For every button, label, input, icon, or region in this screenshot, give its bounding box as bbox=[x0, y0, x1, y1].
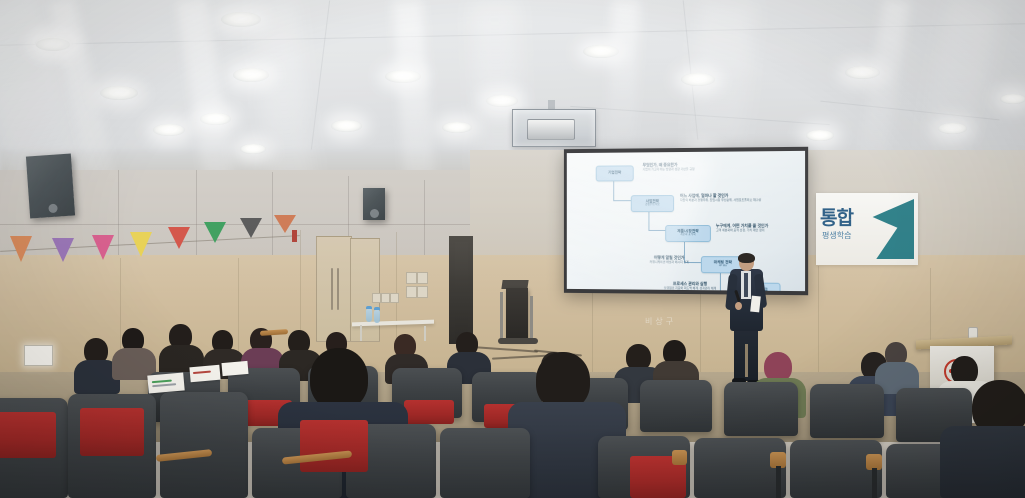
water-bottle[interactable] bbox=[374, 310, 380, 323]
av-cart-base bbox=[498, 338, 538, 344]
ceiling-downlight bbox=[806, 130, 834, 141]
ceiling-downlight bbox=[1000, 94, 1025, 104]
ceiling-downlight bbox=[240, 144, 266, 154]
wall-seam bbox=[818, 266, 819, 372]
printed-handout bbox=[189, 365, 220, 383]
seat-cushion-front[interactable] bbox=[300, 420, 368, 472]
ceiling-downlight bbox=[938, 123, 967, 134]
hall-door-left[interactable] bbox=[316, 236, 352, 342]
note-sub: 고객 세분화와 표적 선정, 가치 제안 정의 bbox=[716, 229, 805, 233]
wall-panel-seam bbox=[118, 170, 119, 260]
light-switch-plate[interactable] bbox=[406, 272, 417, 284]
ceiling-downlight bbox=[200, 113, 231, 125]
seat-armrest bbox=[672, 450, 687, 465]
ceiling-downlight bbox=[233, 68, 269, 82]
table-leg bbox=[360, 325, 362, 341]
ceiling-downlight bbox=[331, 120, 362, 132]
auditorium-seat[interactable] bbox=[640, 380, 712, 432]
printed-handout bbox=[147, 372, 184, 393]
bottle-cap bbox=[366, 306, 372, 309]
ceiling-downlight bbox=[153, 124, 185, 136]
av-cart-pole bbox=[530, 296, 533, 340]
seat-leg bbox=[776, 466, 781, 498]
screen-surface: 기업전략 사업전략 경쟁우위 확보 제품/시장전략 세분화·표적화 마케팅 전략… bbox=[567, 151, 805, 291]
presenter-leg-gap bbox=[745, 344, 748, 377]
ceiling-downlight bbox=[845, 66, 880, 79]
av-equipment-cart bbox=[506, 288, 528, 340]
door-handle[interactable] bbox=[337, 268, 339, 310]
lecture-hall-photo: 비상구 bbox=[0, 0, 1025, 498]
banner-graphic bbox=[868, 199, 914, 259]
light-switch-plate[interactable] bbox=[406, 286, 417, 298]
presenter bbox=[726, 254, 766, 386]
wall-panel-seam bbox=[196, 170, 197, 262]
wall-panel-seam bbox=[272, 172, 273, 264]
light-switch-plate[interactable] bbox=[417, 272, 428, 284]
auditorium-seat-front[interactable] bbox=[440, 428, 530, 498]
bunting-flag bbox=[168, 227, 190, 249]
seat-cushion-front[interactable] bbox=[0, 412, 56, 458]
slide-note: 누구에게, 어떤 가치를 줄 것인가 고객 세분화와 표적 선정, 가치 제안 … bbox=[716, 224, 805, 232]
handout-line bbox=[152, 383, 176, 387]
bunting-flag bbox=[10, 236, 32, 262]
speaker-cone bbox=[370, 209, 379, 218]
banner-title: 통합 bbox=[820, 203, 853, 230]
auditorium-seat-front[interactable] bbox=[160, 392, 248, 498]
ceiling-downlight bbox=[681, 73, 715, 86]
wall-speaker-left bbox=[26, 154, 75, 219]
auditorium-seat[interactable] bbox=[724, 382, 798, 436]
light-switch-plate[interactable] bbox=[417, 286, 428, 298]
speaker-cone bbox=[48, 203, 58, 213]
head bbox=[310, 348, 368, 410]
auditorium-seat[interactable] bbox=[810, 384, 884, 438]
ceiling-downlight bbox=[486, 95, 518, 107]
door-handle[interactable] bbox=[331, 268, 333, 310]
banner-subtitle: 평생학습 bbox=[822, 230, 851, 241]
presenter-notes bbox=[750, 296, 761, 313]
ceiling-downlight bbox=[100, 86, 138, 100]
handout-line bbox=[152, 379, 172, 383]
wall-sign-text: 비상구 bbox=[645, 316, 676, 327]
bunting-flag bbox=[240, 218, 262, 238]
av-cart-pole bbox=[500, 292, 503, 340]
bunting-flag bbox=[204, 222, 226, 243]
seat-cushion-front[interactable] bbox=[80, 408, 144, 456]
hall-door-right[interactable] bbox=[350, 238, 380, 342]
shoulders bbox=[940, 426, 1025, 498]
seat-leg bbox=[872, 468, 877, 498]
wall-marker bbox=[292, 230, 297, 242]
emergency-light-box bbox=[24, 345, 53, 366]
bottle-cap bbox=[374, 307, 380, 310]
presenter-hand bbox=[735, 302, 742, 310]
projection-screen: 기업전략 사업전략 경쟁우위 확보 제품/시장전략 세분화·표적화 마케팅 전략… bbox=[564, 147, 808, 295]
wall-speaker-right bbox=[363, 188, 385, 220]
ceiling-downlight bbox=[583, 45, 619, 58]
outlet-plate[interactable] bbox=[381, 293, 390, 303]
projector bbox=[512, 109, 596, 147]
ceiling-downlight bbox=[36, 38, 70, 51]
wall-panel-seam bbox=[424, 180, 425, 266]
printed-handout bbox=[221, 361, 248, 376]
auditorium-seat-front[interactable] bbox=[694, 438, 786, 498]
bunting-flag bbox=[130, 232, 152, 257]
ceiling-downlight bbox=[221, 12, 261, 27]
table-leg bbox=[424, 326, 426, 341]
wall-panel-seam bbox=[0, 224, 470, 225]
open-doorway-inner bbox=[455, 242, 468, 340]
wall-banner: 통합 평생학습 bbox=[816, 193, 918, 265]
water-bottle[interactable] bbox=[366, 309, 372, 322]
handout-line bbox=[193, 370, 211, 374]
outlet-plate[interactable] bbox=[372, 293, 381, 303]
presenter-hair bbox=[738, 253, 755, 263]
seat-cushion[interactable] bbox=[404, 400, 454, 424]
presenter-tie bbox=[744, 273, 748, 297]
outlet-plate[interactable] bbox=[390, 293, 399, 303]
bunting-flag bbox=[92, 235, 114, 260]
ceiling-downlight bbox=[442, 122, 472, 133]
bunting-flag bbox=[52, 238, 74, 262]
ceiling-downlight bbox=[385, 70, 421, 83]
